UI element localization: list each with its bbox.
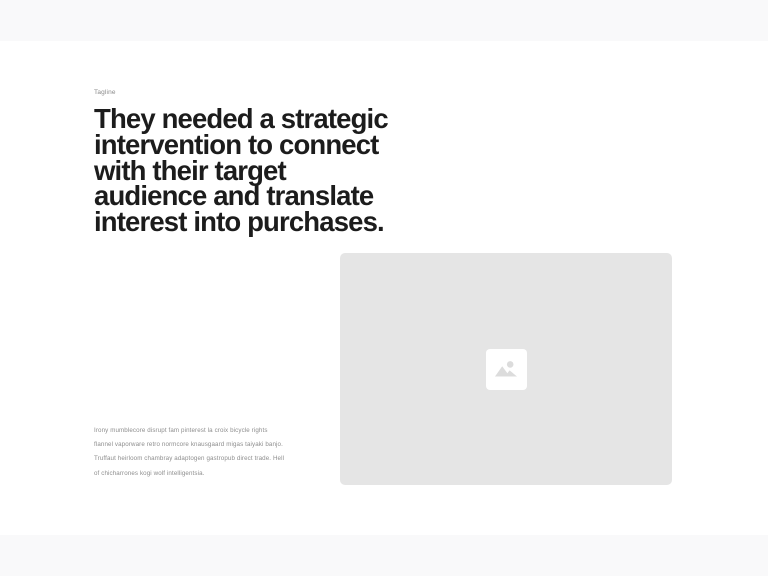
image-icon bbox=[493, 356, 519, 382]
headline-line-2: intervention to connect bbox=[94, 132, 394, 158]
bottom-chrome-strip bbox=[0, 535, 768, 576]
headline-line-5: interest into purchases. bbox=[94, 209, 394, 235]
top-chrome-strip bbox=[0, 0, 768, 41]
tagline-label: Tagline bbox=[94, 88, 394, 97]
image-placeholder bbox=[340, 253, 672, 485]
image-icon-container bbox=[486, 349, 527, 390]
body-paragraph: Irony mumblecore disrupt fam pinterest l… bbox=[94, 424, 286, 481]
landing-page: Tagline They needed a strategic interven… bbox=[0, 0, 768, 576]
text-column: Tagline They needed a strategic interven… bbox=[94, 88, 394, 235]
page-title: They needed a strategic intervention to … bbox=[94, 106, 394, 235]
